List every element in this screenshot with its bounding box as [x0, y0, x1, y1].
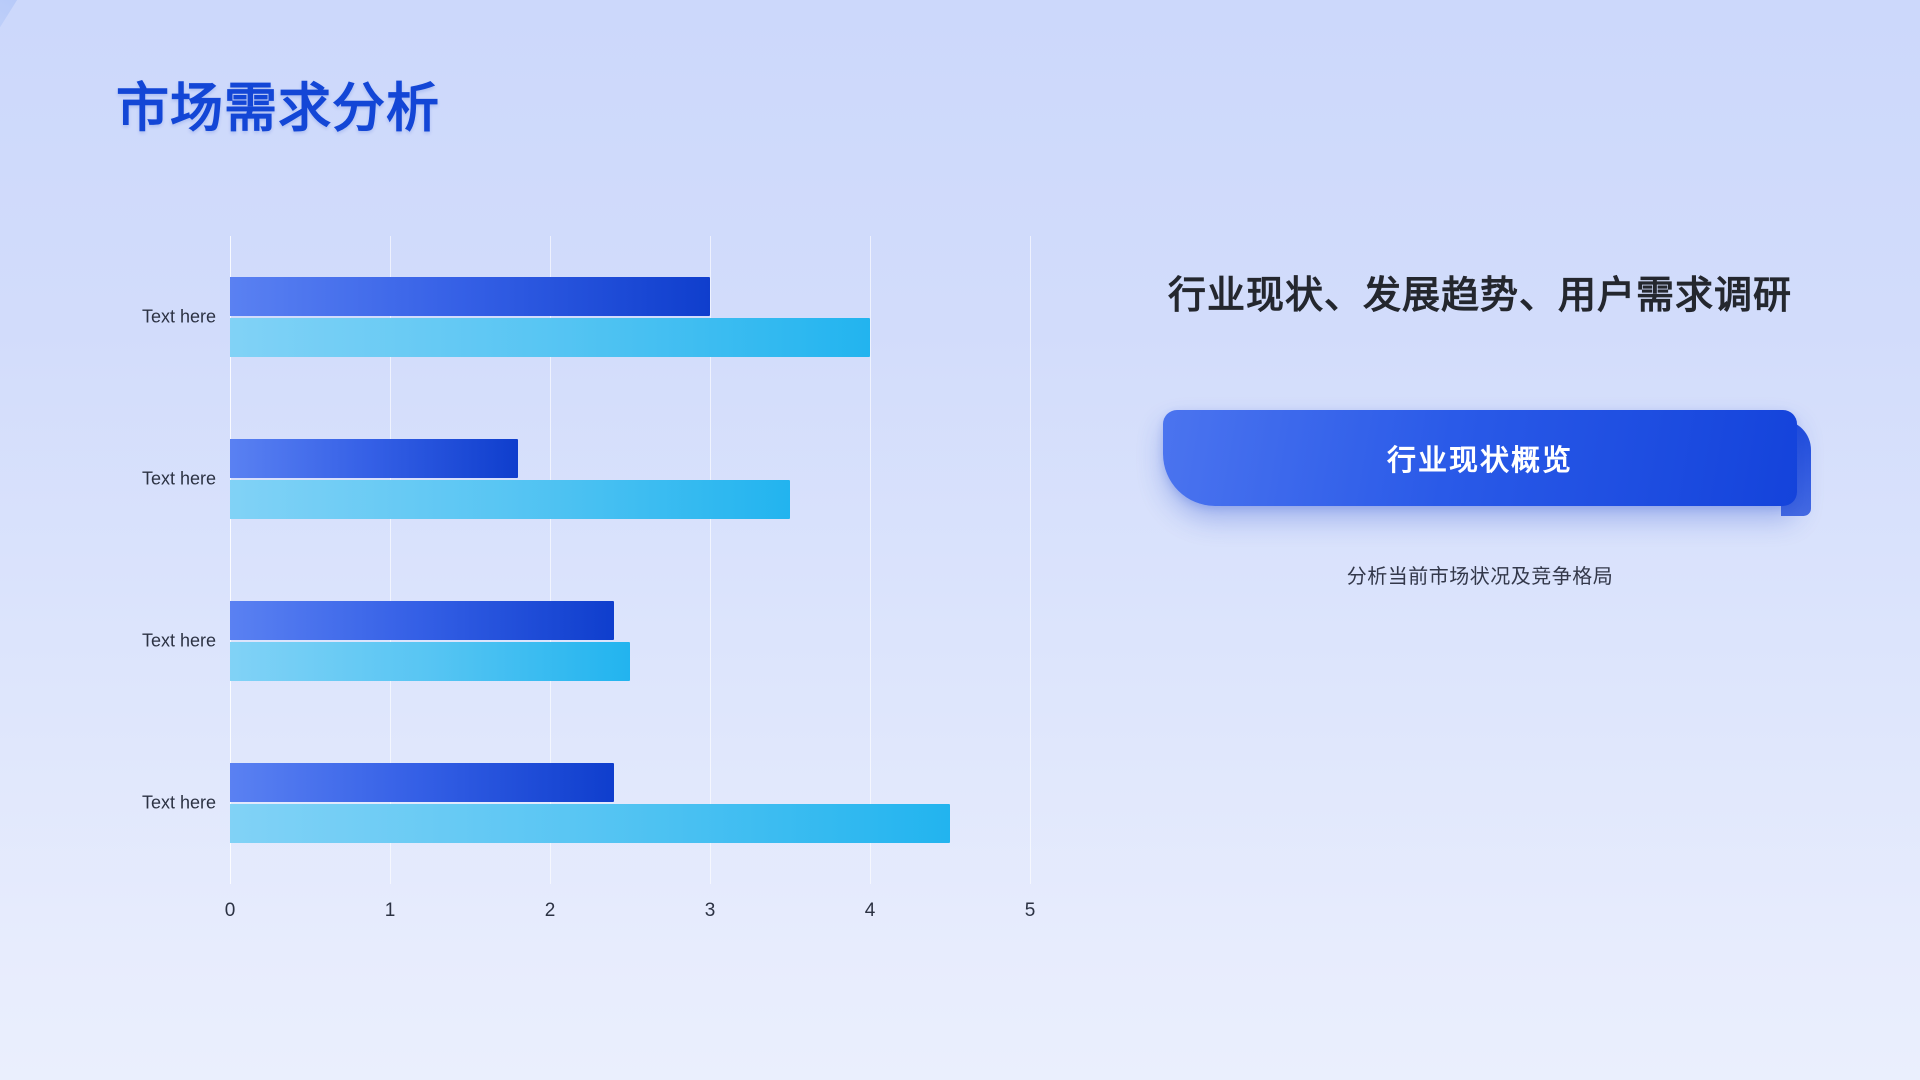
chart-bar-secondary: [230, 318, 870, 357]
panel-heading: 行业现状、发展趋势、用户需求调研: [1130, 270, 1830, 324]
cta-container: 行业现状概览: [1130, 410, 1830, 506]
chart-bar-primary: [230, 277, 710, 316]
chart-bar-group: Text here: [230, 439, 1030, 519]
chart-category-label: Text here: [142, 793, 216, 814]
chart-category-label: Text here: [142, 631, 216, 652]
chart-bar-primary: [230, 601, 614, 640]
industry-overview-button[interactable]: 行业现状概览: [1163, 410, 1797, 506]
chart-row: Text here: [230, 398, 1030, 560]
x-axis-tick-label: 3: [705, 900, 716, 922]
x-axis-tick-label: 1: [385, 900, 396, 922]
bar-chart: Text hereText hereText hereText here 012…: [110, 236, 1070, 896]
x-axis-tick-label: 4: [865, 900, 876, 922]
diagonal-stripe-primary-icon: [0, 0, 27, 266]
industry-overview-button-label: 行业现状概览: [1387, 437, 1573, 479]
chart-bar-secondary: [230, 642, 630, 681]
chart-row: Text here: [230, 236, 1030, 398]
chart-bar-secondary: [230, 804, 950, 843]
x-axis-tick-label: 5: [1025, 900, 1036, 922]
chart-bar-primary: [230, 439, 518, 478]
chart-bar-secondary: [230, 480, 790, 519]
x-axis-tick-label: 2: [545, 900, 556, 922]
chart-row: Text here: [230, 560, 1030, 722]
chart-bar-primary: [230, 763, 614, 802]
x-axis-tick-label: 0: [225, 900, 236, 922]
chart-gridline: [1030, 236, 1031, 884]
chart-bar-group: Text here: [230, 601, 1030, 681]
chart-bar-group: Text here: [230, 763, 1030, 843]
page-title: 市场需求分析: [116, 80, 440, 138]
panel-caption: 分析当前市场状况及竞争格局: [1130, 560, 1830, 589]
chart-category-label: Text here: [142, 307, 216, 328]
chart-category-label: Text here: [142, 469, 216, 490]
chart-row: Text here: [230, 722, 1030, 884]
chart-plot-area: Text hereText hereText hereText here: [230, 236, 1030, 884]
chart-x-axis: 012345: [230, 886, 1030, 926]
diagonal-stripe-secondary-icon: [0, 0, 98, 235]
chart-bar-group: Text here: [230, 277, 1030, 357]
info-panel: 行业现状、发展趋势、用户需求调研 行业现状概览 分析当前市场状况及竞争格局: [1130, 270, 1830, 589]
